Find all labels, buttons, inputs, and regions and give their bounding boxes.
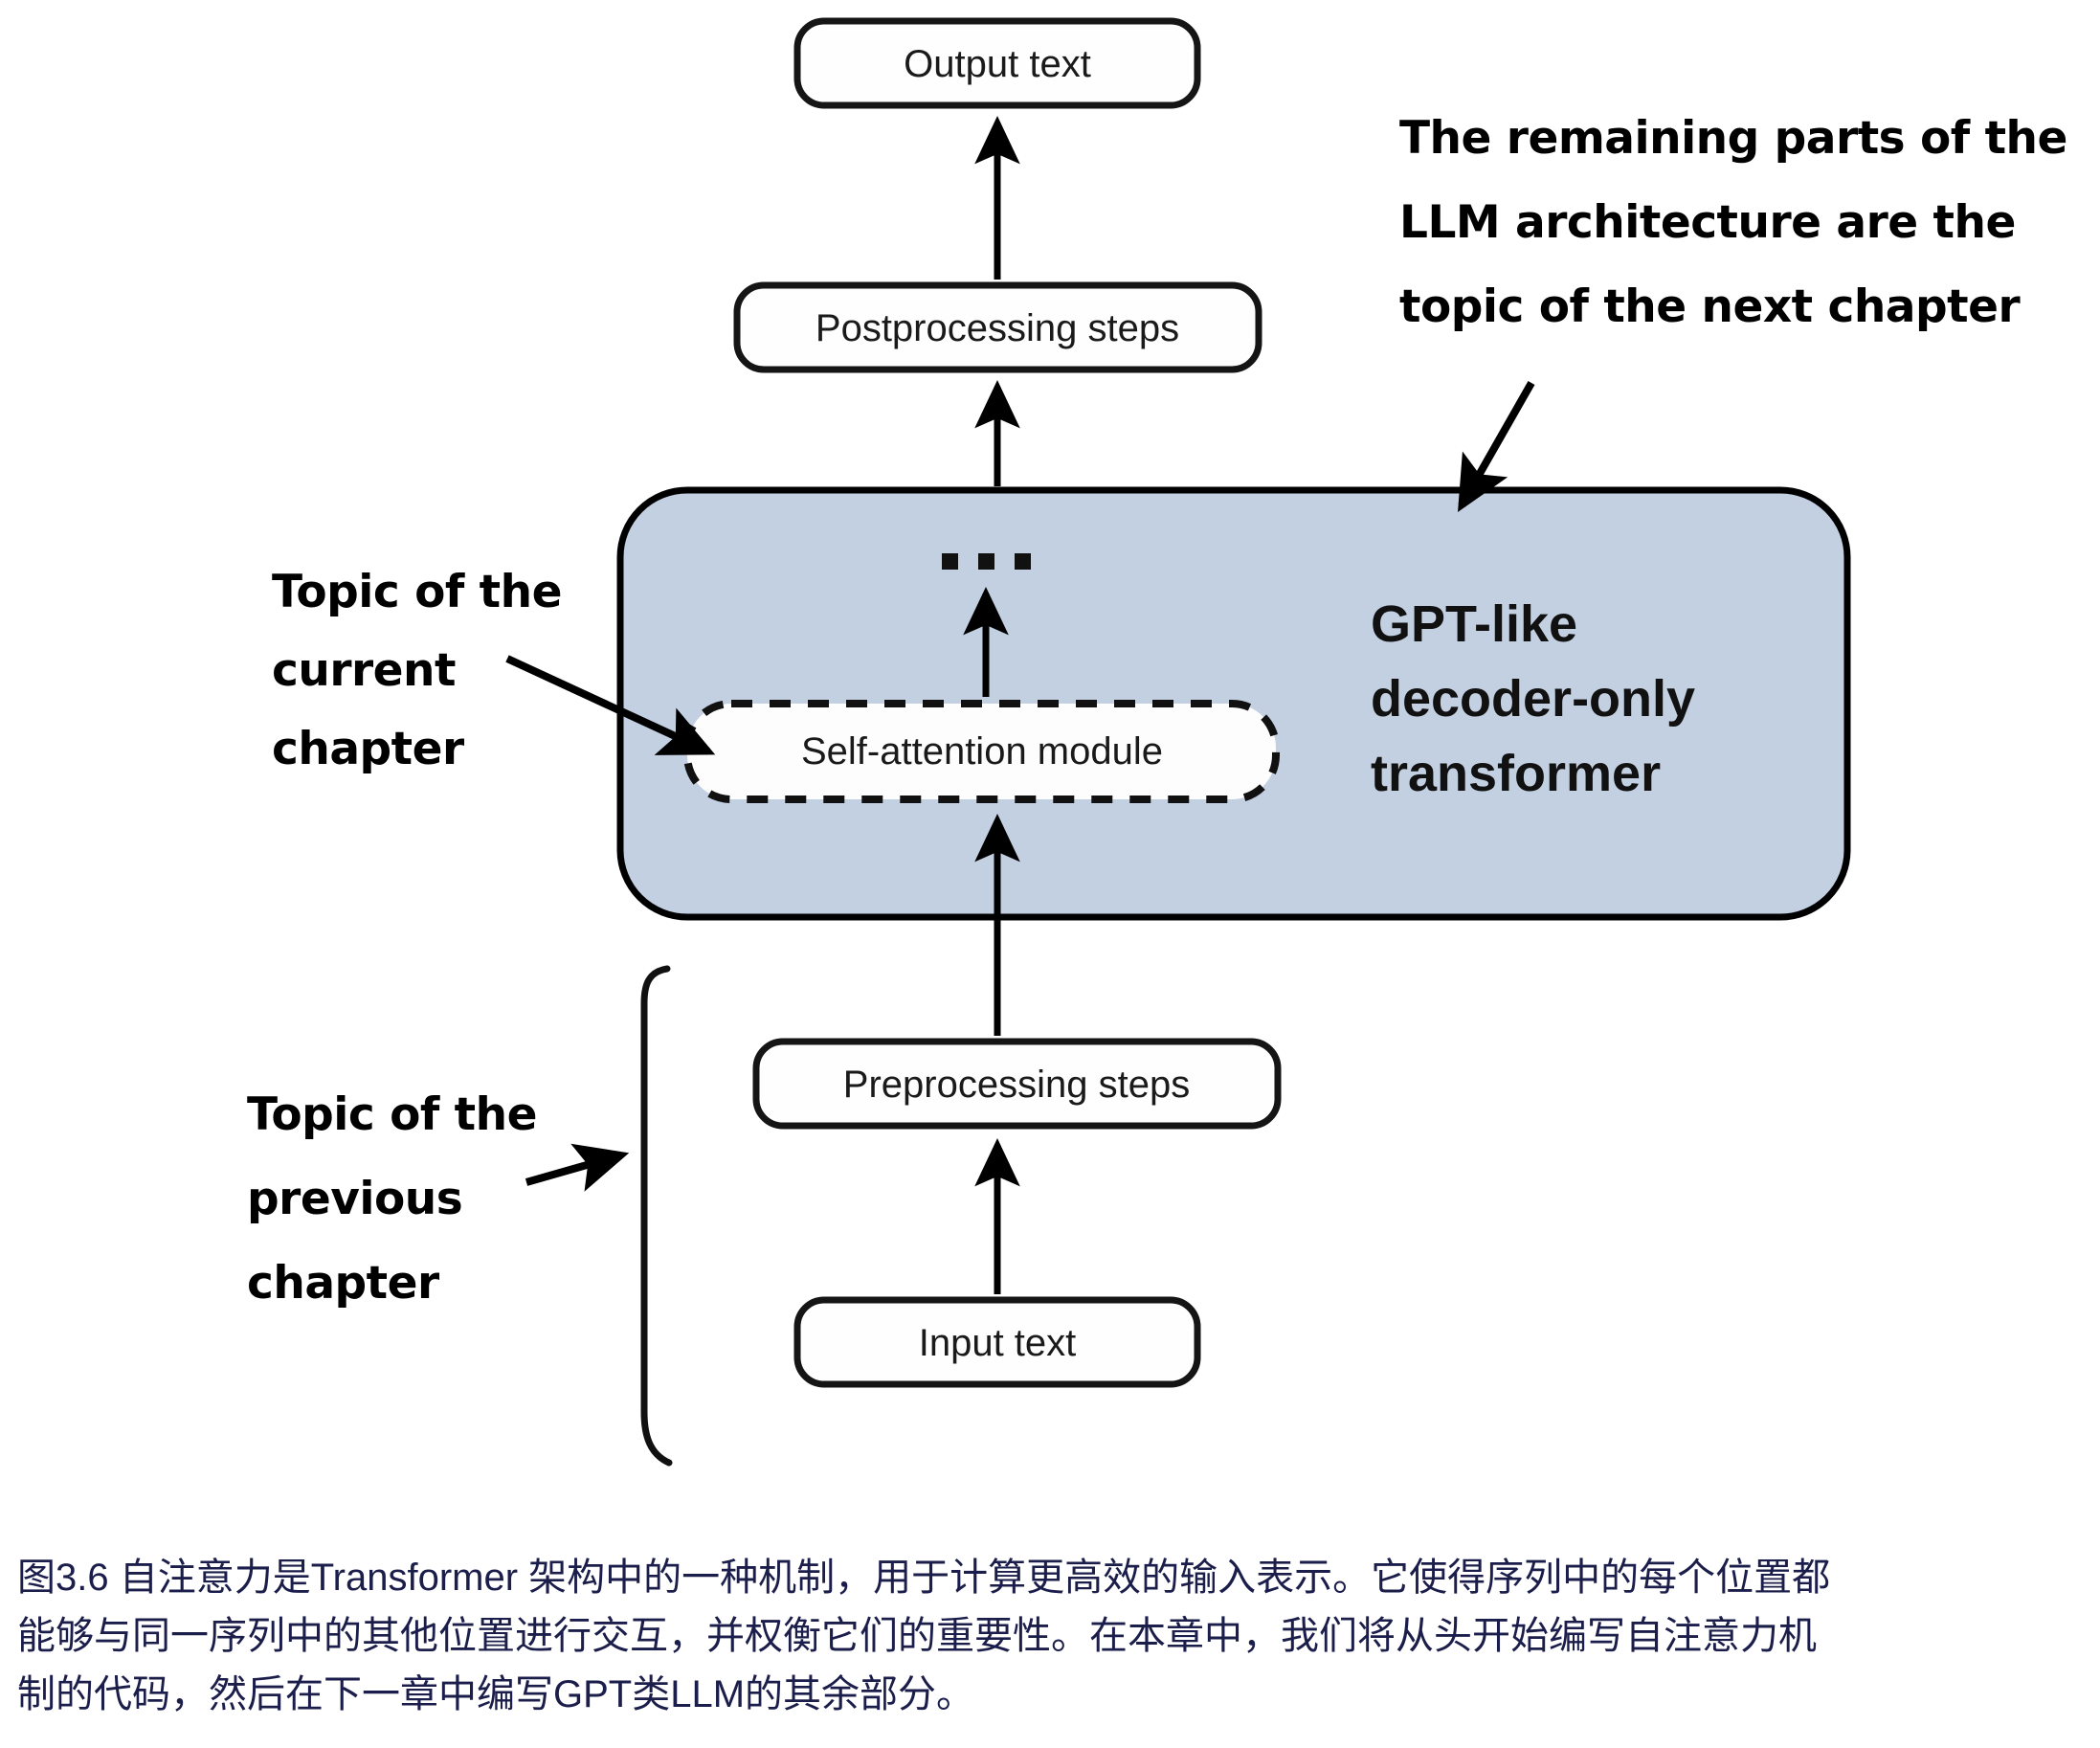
diagram-canvas: GPT-like decoder-only transformer Output…: [0, 0, 2100, 1493]
next-chapter-line-3: topic of the next chapter: [1399, 280, 2022, 333]
caption-line-3: 制的代码，然后在下一章中编写GPT类LLM的其余部分。: [17, 1666, 2083, 1724]
ellipsis-icon: [942, 553, 1031, 570]
previous-chapter-pointer-arrow: [526, 1155, 620, 1182]
figure-container: GPT-like decoder-only transformer Output…: [0, 0, 2100, 1748]
self-attention-label: Self-attention module: [801, 730, 1163, 773]
gpt-block-label-line-1: GPT-like: [1371, 595, 1577, 653]
caption-line-1: 图3.6 自注意力是Transformer 架构中的一种机制，用于计算更高效的输…: [17, 1549, 2083, 1607]
output-text-label: Output text: [904, 43, 1091, 85]
gpt-block-label-line-3: transformer: [1371, 745, 1661, 802]
figure-caption: 图3.6 自注意力是Transformer 架构中的一种机制，用于计算更高效的输…: [17, 1549, 2083, 1723]
current-chapter-line-1: Topic of the: [272, 566, 562, 618]
current-chapter-line-3: chapter: [272, 723, 465, 775]
previous-chapter-line-2: previous: [247, 1173, 462, 1225]
input-text-label: Input text: [919, 1322, 1077, 1364]
current-chapter-line-2: current: [272, 644, 456, 697]
node-output-text[interactable]: Output text: [797, 21, 1197, 105]
node-self-attention-module[interactable]: Self-attention module: [687, 704, 1276, 799]
node-postprocessing-steps[interactable]: Postprocessing steps: [737, 285, 1259, 370]
annotation-previous-chapter: Topic of the previous chapter: [247, 1088, 620, 1310]
next-chapter-line-1: The remaining parts of the: [1399, 112, 2067, 165]
caption-line-2: 能够与同一序列中的其他位置进行交互，并权衡它们的重要性。在本章中，我们将从头开始…: [17, 1607, 2083, 1666]
postprocessing-label: Postprocessing steps: [815, 307, 1179, 349]
preprocessing-group-bracket: [644, 969, 669, 1463]
annotation-next-chapter: The remaining parts of the LLM architect…: [1399, 112, 2067, 505]
previous-chapter-line-1: Topic of the: [247, 1088, 537, 1141]
gpt-block-label-line-2: decoder-only: [1371, 670, 1695, 728]
next-chapter-line-2: LLM architecture are the: [1399, 196, 2016, 249]
previous-chapter-line-3: chapter: [247, 1257, 440, 1310]
node-preprocessing-steps[interactable]: Preprocessing steps: [756, 1042, 1278, 1126]
preprocessing-label: Preprocessing steps: [843, 1064, 1190, 1106]
node-input-text[interactable]: Input text: [797, 1300, 1197, 1384]
